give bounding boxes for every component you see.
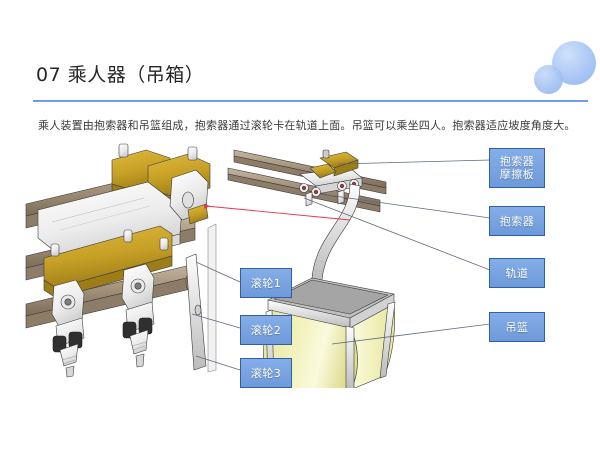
callout-roller-2[interactable]: 滚轮2 [240,315,292,345]
page-title: 07 乘人器（吊箱） [36,60,204,87]
decorative-circle-small [534,65,563,94]
callout-roller-3[interactable]: 滚轮3 [240,358,292,388]
callout-gripper[interactable]: 抱索器 [489,206,545,236]
technical-illustration [20,138,490,388]
callout-track-line-1: 轨道 [506,267,529,280]
header-decoration [528,38,600,108]
callout-gripper-friction-plate[interactable]: 抱索器 摩擦板 [489,148,545,188]
callout-roller-1[interactable]: 滚轮1 [240,268,292,298]
callout-roller-1-line-1: 滚轮1 [251,277,282,290]
description-text: 乘人装置由抱索器和吊篮组成，抱索器通过滚轮卡在轨道上面。吊篮可以乘坐四人。抱索器… [38,117,576,133]
callout-track[interactable]: 轨道 [489,258,545,288]
title-divider-rule [33,100,588,102]
callout-gripper-friction-plate-line-2: 摩擦板 [500,168,535,181]
callout-gondola-line-1: 吊篮 [506,321,529,334]
roller-assembly-2 [122,264,154,367]
callout-gripper-friction-plate-line-1: 抱索器 [500,155,535,168]
gripper-closeup-assembly [26,144,216,377]
callout-gripper-line-1: 抱索器 [500,215,535,228]
roller-assembly-1 [52,280,84,377]
callout-gondola[interactable]: 吊篮 [489,312,545,342]
callout-roller-3-line-1: 滚轮3 [251,367,282,380]
callout-roller-2-line-1: 滚轮2 [251,324,282,337]
